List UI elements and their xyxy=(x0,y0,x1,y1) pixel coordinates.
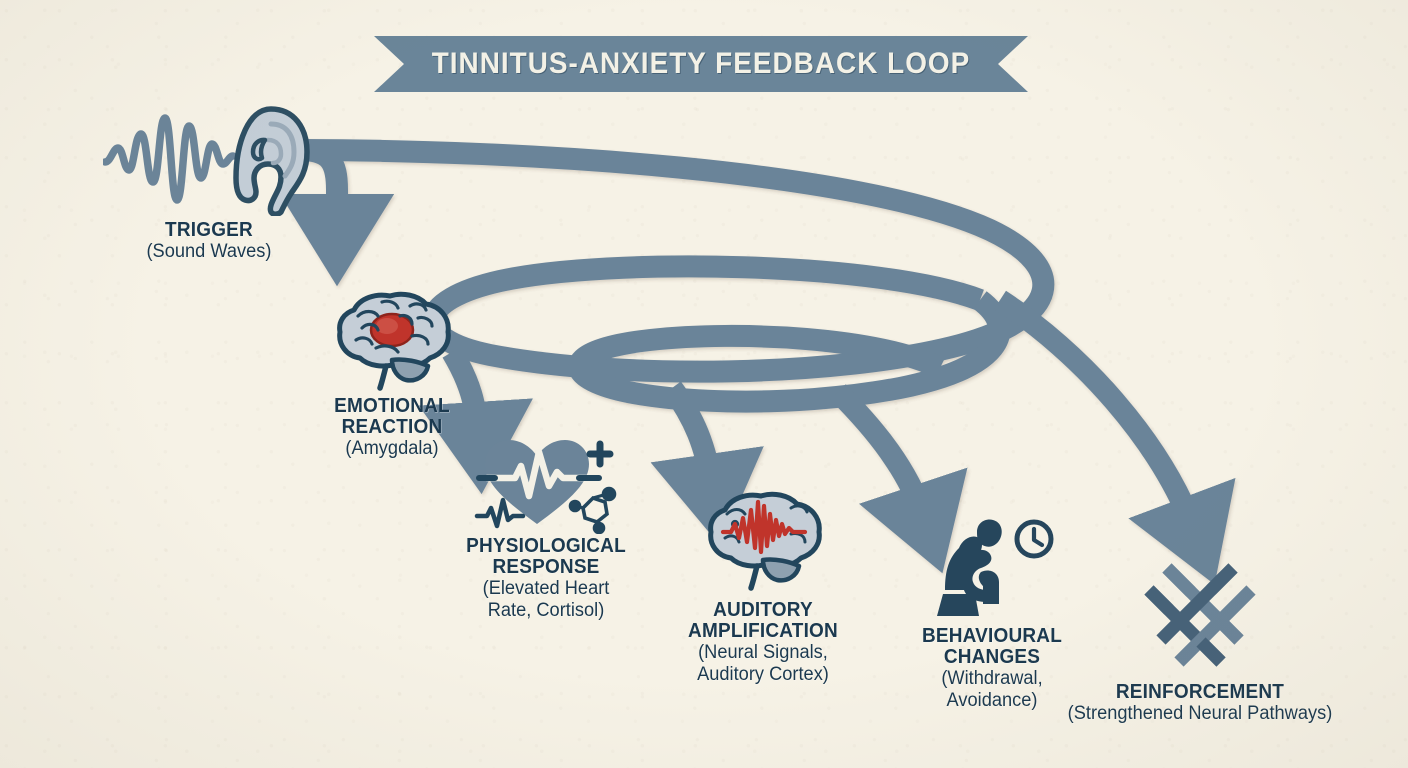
ear-soundwave-icon xyxy=(64,104,354,216)
node-trigger-title: TRIGGER xyxy=(71,220,347,241)
title-banner: TINNITUS-ANXIETY FEEDBACK LOOP xyxy=(374,36,1028,92)
node-trigger-subtitle: (Sound Waves) xyxy=(70,242,348,262)
arrow-to-reinforcement xyxy=(1000,300,1194,530)
node-reinforcement-title: REINFORCEMENT xyxy=(1020,682,1381,703)
page-title: TINNITUS-ANXIETY FEEDBACK LOOP xyxy=(397,36,1005,92)
woven-pathways-icon xyxy=(1010,560,1390,678)
node-trigger-caption: TRIGGER (Sound Waves) xyxy=(64,220,354,262)
node-trigger: TRIGGER (Sound Waves) xyxy=(64,104,354,262)
node-reinforcement: REINFORCEMENT (Strengthened Neural Pathw… xyxy=(1010,560,1390,724)
brain-amygdala-icon xyxy=(248,288,536,394)
node-reinforcement-subtitle: (Strengthened Neural Pathways) xyxy=(1018,704,1383,724)
node-emotional-title-line1: EMOTIONAL xyxy=(255,396,529,417)
node-reinforcement-caption: REINFORCEMENT (Strengthened Neural Pathw… xyxy=(1010,682,1390,724)
